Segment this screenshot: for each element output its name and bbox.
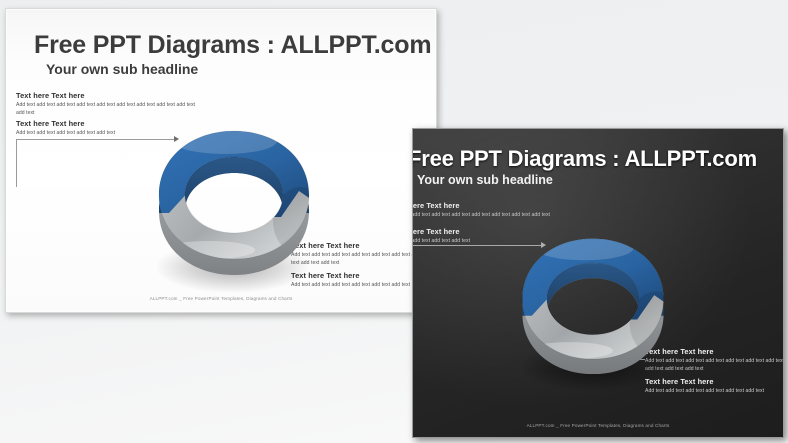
page-title: Free PPT Diagrams : ALLPPT.com: [34, 31, 431, 60]
callout-top-left-1[interactable]: Text here Text here Add text add text ad…: [16, 91, 196, 117]
dark-slide-canvas: Free PPT Diagrams : ALLPPT.com Your own …: [413, 129, 783, 437]
page-title: Free PPT Diagrams : ALLPPT.com: [413, 146, 757, 172]
light-slide-canvas: Free PPT Diagrams : ALLPPT.com Your own …: [6, 9, 436, 312]
slide-footer: ALLPPT.com _ Free PowerPoint Templates, …: [527, 423, 670, 428]
callout-body: Add text add text add text add text add …: [16, 102, 196, 117]
screenshot-stage: Free PPT Diagrams : ALLPPT.com Your own …: [0, 0, 788, 443]
callout-top-left-1[interactable]: Text here Text here Add text add text ad…: [413, 201, 551, 220]
ring-diagram[interactable]: [149, 117, 319, 302]
dark-slide[interactable]: Free PPT Diagrams : ALLPPT.com Your own …: [412, 128, 784, 438]
ring-diagram[interactable]: [513, 225, 673, 400]
page-subtitle: Your own sub headline: [417, 173, 553, 187]
slide-footer: ALLPPT.com _ Free PowerPoint Templates, …: [150, 296, 293, 301]
callout-body: Add text add text add text add text add …: [413, 212, 551, 220]
light-slide[interactable]: Free PPT Diagrams : ALLPPT.com Your own …: [5, 8, 437, 313]
callout-heading: Text here Text here: [413, 201, 551, 211]
page-subtitle: Your own sub headline: [46, 61, 198, 77]
callout-heading: Text here Text here: [16, 91, 196, 101]
